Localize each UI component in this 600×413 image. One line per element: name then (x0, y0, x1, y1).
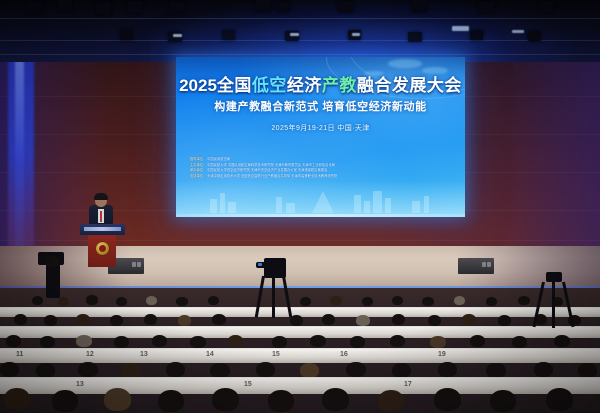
stage-light (120, 30, 133, 40)
tower-landmark (312, 191, 334, 213)
seat-number: 15 (272, 351, 280, 358)
light-lens (290, 33, 299, 36)
tripod-leg (272, 276, 275, 318)
stage-light (338, 1, 353, 12)
city-skyline-graphic (176, 181, 465, 217)
stage-light (528, 31, 541, 41)
lighting-truss (0, 18, 600, 19)
organizer-role: 支持单位: (190, 174, 204, 180)
presenter-hair (94, 193, 108, 200)
stage-light (255, 0, 271, 12)
stage-light (222, 30, 235, 40)
organizer-names: 天津中德应用技术大学 全国低空智联行业产教融合共同体 天津市高等职业技术教育研究… (207, 174, 337, 180)
seat-number: 19 (438, 351, 446, 358)
conference-hall-photo: 2025全国低空经济产教融合发展大会 构建产教融合新范式 培育低空经济新动能 2… (0, 0, 600, 413)
led-stage-screen: 2025全国低空经济产教融合发展大会 构建产教融合新范式 培育低空经济新动能 2… (176, 57, 465, 217)
tripod-leg (552, 282, 555, 328)
seat-number: 11 (16, 351, 23, 358)
pillar-light-core (15, 52, 24, 272)
organizer-list: 指导单位: 中国民用航空局 主办单位: 中国民航大学 中国民用航空局科学技术研究… (190, 157, 452, 179)
conference-subtitle: 构建产教融合新范式 培育低空经济新动能 (176, 98, 465, 114)
stage-light (170, 2, 185, 13)
stage-light (412, 0, 427, 12)
organizer-row: 支持单位: 天津中德应用技术大学 全国低空智联行业产教融合共同体 天津市高等职业… (190, 174, 452, 180)
light-lens (512, 30, 524, 33)
stage-light (26, 2, 42, 14)
title-seg-white-2: 经济 (287, 76, 322, 95)
stage-light (540, 1, 554, 12)
presenter-tie (100, 211, 102, 222)
podium-emblem (96, 242, 109, 255)
audience-seating: 11 12 13 14 15 16 19 13 15 17 (0, 288, 600, 413)
podium-light-strip (84, 227, 121, 231)
seat-number: 13 (140, 351, 148, 358)
seat-number: 16 (340, 351, 348, 358)
light-lens (173, 34, 182, 37)
conference-date: 2025年9月19-21日 中国·天津 (176, 123, 465, 133)
seat-number: 15 (244, 381, 252, 388)
title-year: 2025 (179, 76, 217, 95)
stage-light (478, 2, 494, 13)
title-seg-cyan: 低空 (252, 76, 287, 95)
stage-light (58, 0, 72, 11)
screen-bottom-edge (176, 214, 465, 217)
seat-number: 17 (404, 381, 412, 388)
conference-title: 2025全国低空经济产教融合发展大会 (176, 71, 465, 96)
light-lens (452, 26, 469, 31)
title-seg-white-3: 融合发展大会 (357, 76, 462, 95)
lighting-truss (0, 54, 600, 55)
stage-light (96, 3, 111, 15)
operator-head (46, 256, 59, 267)
seat-number: 12 (86, 351, 94, 358)
camera-operator-left (46, 264, 60, 298)
seat-number: 14 (206, 351, 214, 358)
lighting-truss (0, 40, 600, 41)
stage-light (470, 30, 483, 40)
title-seg-green: 产教 (322, 76, 357, 95)
title-seg-white-1: 全国 (217, 76, 252, 95)
light-lens (352, 33, 360, 36)
aircraft-graphic (388, 59, 422, 68)
camera-led (258, 263, 262, 266)
seat-number: 13 (76, 381, 84, 388)
stage-light (277, 2, 289, 12)
stage-light (408, 32, 422, 42)
tripod-camera-right (546, 272, 562, 282)
stage-light (128, 1, 142, 13)
